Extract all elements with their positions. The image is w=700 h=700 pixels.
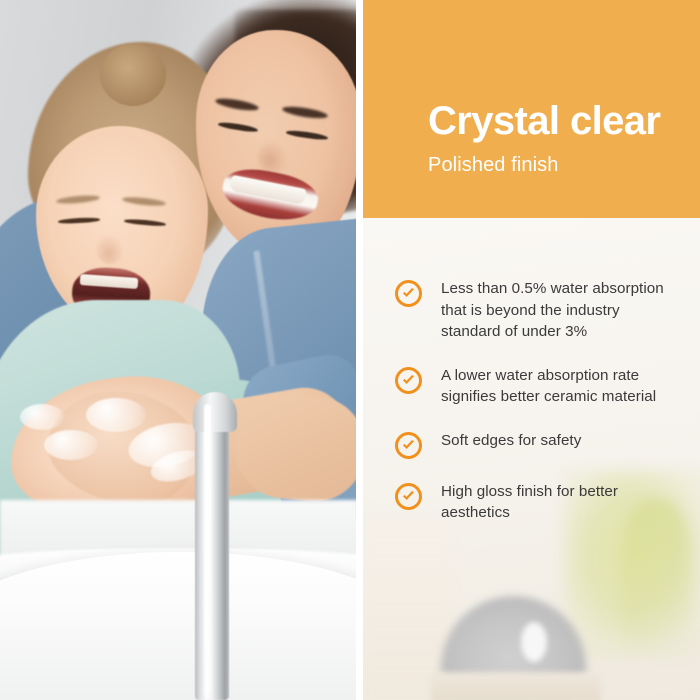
- soap-suds: [44, 430, 98, 460]
- page-title: Crystal clear: [428, 101, 660, 141]
- panel-divider: [356, 0, 363, 700]
- check-circle-icon: [395, 432, 422, 459]
- mother-nose: [258, 140, 288, 174]
- page-subtitle: Polished finish: [428, 155, 558, 175]
- backdrop-counter: [431, 672, 601, 700]
- check-circle-icon: [395, 280, 422, 307]
- list-item: High gloss finish for better aesthetics: [363, 481, 700, 524]
- product-feature-infographic: Crystal clear Polished finish Less than …: [0, 0, 700, 700]
- faucet-highlight: [204, 404, 211, 694]
- soap-suds: [20, 404, 64, 430]
- check-circle-icon: [395, 367, 422, 394]
- faucet-spout: [193, 392, 237, 432]
- check-circle-icon: [395, 483, 422, 510]
- list-item: Less than 0.5% water absorption that is …: [363, 278, 700, 343]
- chrome-faucet: [195, 400, 229, 700]
- list-item: A lower water absorption rate signifies …: [363, 365, 700, 408]
- feature-text: A lower water absorption rate signifies …: [441, 365, 669, 408]
- white-basin: [0, 552, 358, 700]
- feature-panel: Crystal clear Polished finish Less than …: [363, 0, 700, 700]
- feature-list: Less than 0.5% water absorption that is …: [363, 218, 700, 546]
- child-hair-bun: [100, 44, 166, 106]
- backdrop-bowl-highlight: [521, 622, 547, 662]
- feature-text: High gloss finish for better aesthetics: [441, 481, 669, 524]
- child-nose: [96, 234, 124, 264]
- feature-text: Less than 0.5% water absorption that is …: [441, 278, 669, 343]
- soap-suds: [86, 398, 146, 432]
- list-item: Soft edges for safety: [363, 430, 700, 459]
- feature-text: Soft edges for safety: [441, 430, 581, 452]
- header-banner: Crystal clear Polished finish: [363, 0, 700, 218]
- lifestyle-photo: [0, 0, 358, 700]
